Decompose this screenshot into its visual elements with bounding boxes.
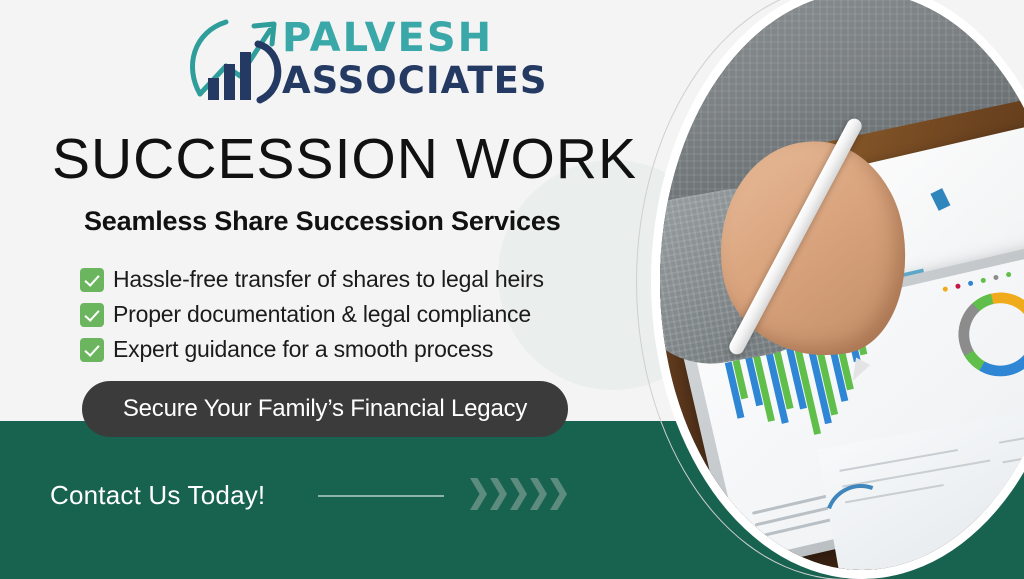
feature-list: Hassle-free transfer of shares to legal … [80,262,544,367]
green-check-icon [80,338,104,362]
photo-content [660,0,1024,570]
growth-arrow-bar-chart-icon [186,16,294,108]
brand-logo-text: PALVESH ASSOCIATES [282,18,548,99]
feature-item-label: Expert guidance for a smooth process [113,336,493,363]
photo-doc-line [1002,442,1024,463]
photo-tablet-donut-chart [950,284,1024,385]
photo-paper-minibar [930,188,950,211]
photo-doc-line [999,426,1024,444]
feature-item: Hassle-free transfer of shares to legal … [80,262,544,297]
feature-item-label: Hassle-free transfer of shares to legal … [113,266,544,293]
chevron-arrows [470,478,567,510]
chevron-right-icon [550,478,567,510]
photo-tablet-legend-dot [993,274,999,280]
brand-logo[interactable]: PALVESH ASSOCIATES [186,12,486,112]
chevron-right-icon [490,478,507,510]
feature-item-label: Proper documentation & legal compliance [113,301,531,328]
feature-item: Expert guidance for a smooth process [80,332,544,367]
promotional-banner: PALVESH ASSOCIATES SUCCESSION WORK Seaml… [0,0,1024,579]
photo-tablet-legend-dot [955,283,961,289]
chevron-right-icon [530,478,547,510]
photo-tablet-legend-dot [1006,272,1012,278]
photo-tablet-legend-dot [968,280,974,286]
green-check-icon [80,268,104,292]
photo-tablet-legend-dot [942,286,948,292]
page-subtitle: Seamless Share Succession Services [84,206,561,237]
brand-name-secondary: ASSOCIATES [282,62,548,99]
page-title: SUCCESSION WORK [52,126,637,192]
green-check-icon [80,303,104,327]
footer-divider [318,495,444,497]
cta-button[interactable]: Secure Your Family’s Financial Legacy [82,381,568,437]
cta-button-label: Secure Your Family’s Financial Legacy [123,395,527,423]
chevron-right-icon [510,478,527,510]
chevron-right-icon [470,478,487,510]
contact-text: Contact Us Today! [50,480,265,511]
hero-photo [660,0,1024,570]
photo-tablet-legend-dot [980,277,986,283]
brand-name-primary: PALVESH [282,18,548,58]
feature-item: Proper documentation & legal compliance [80,297,544,332]
